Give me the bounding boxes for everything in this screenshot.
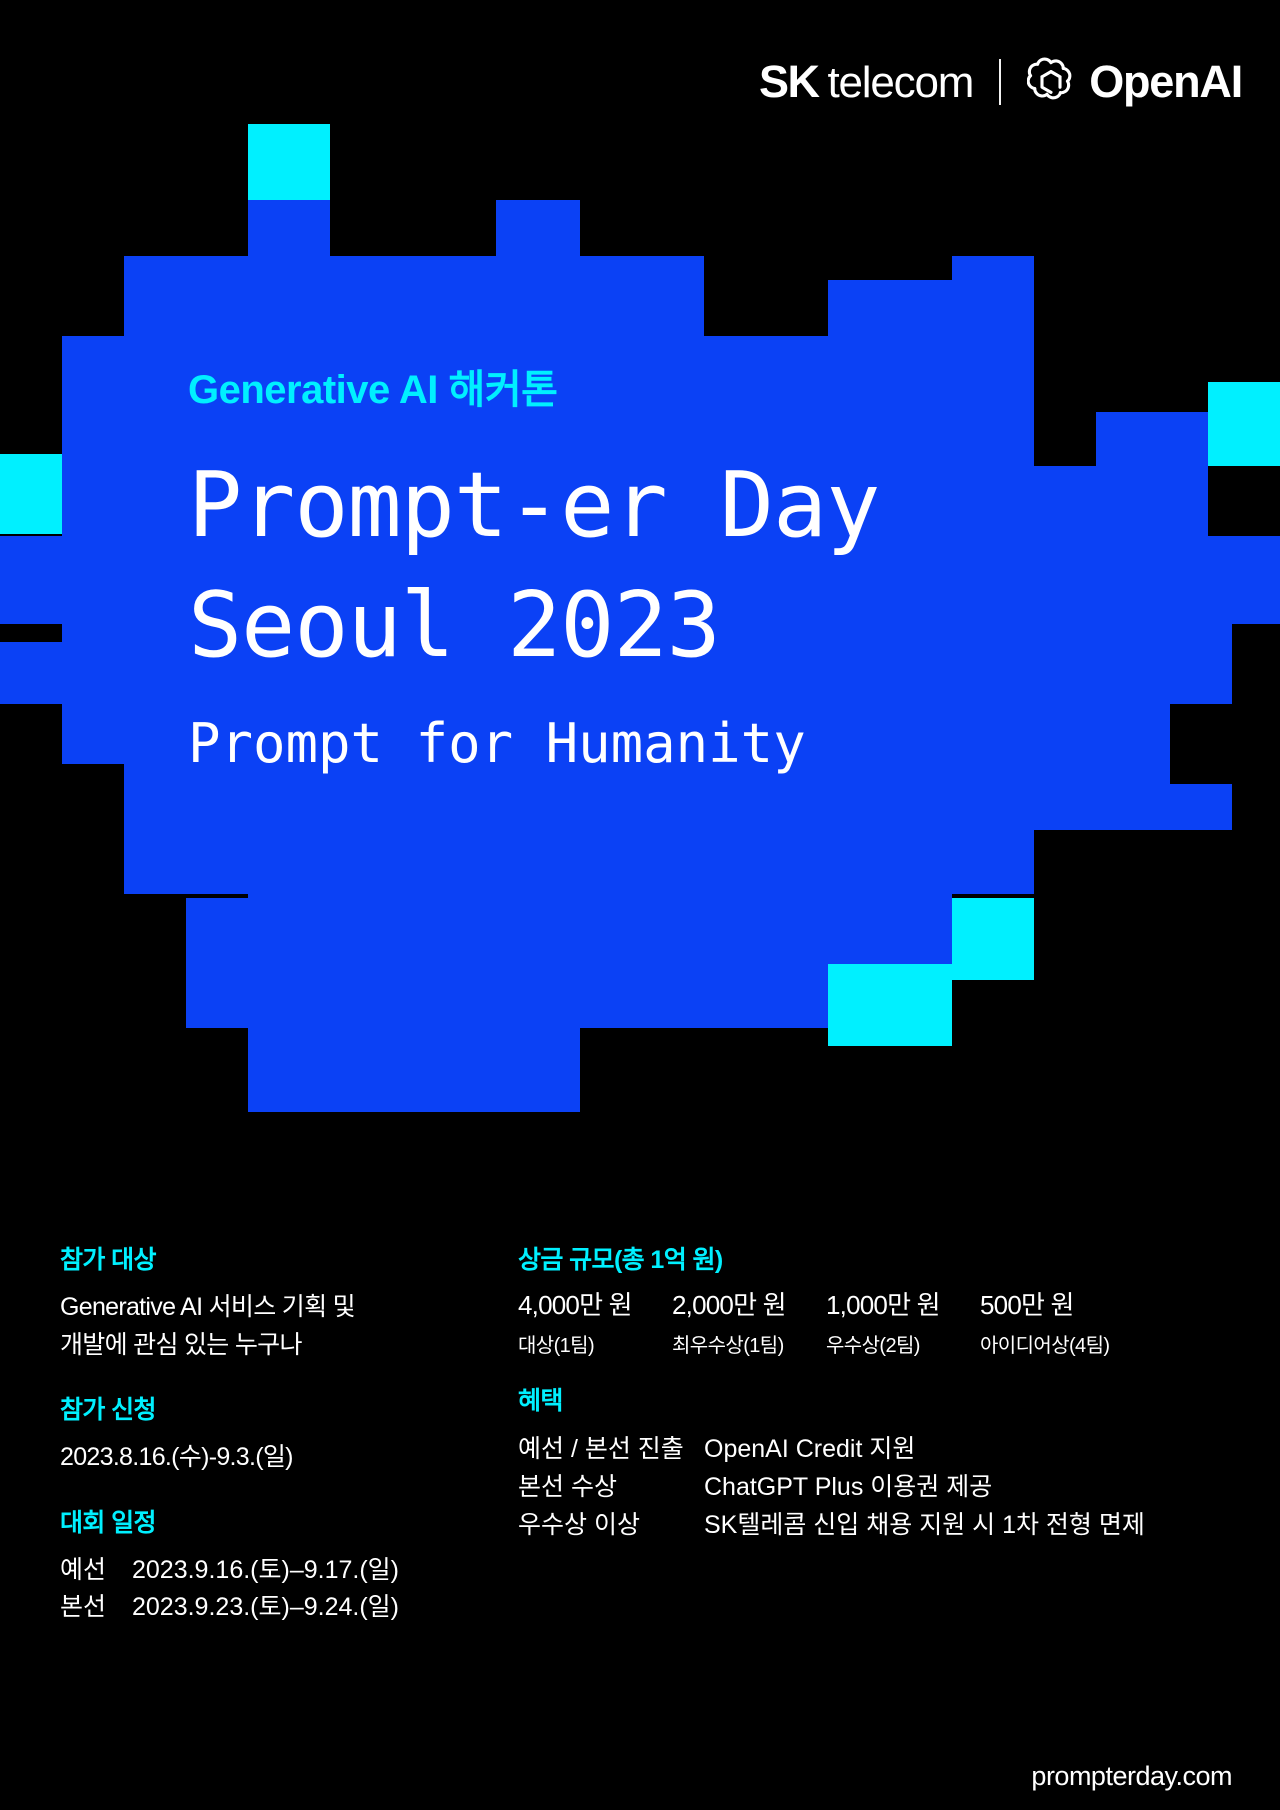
website-url[interactable]: prompterday.com — [1031, 1763, 1232, 1790]
application-period: 2023.8.16.(수)-9.3.(일) — [60, 1439, 460, 1477]
info-column-right: 상금 규모(총 1억 원) 4,000만 원 대상(1팀) 2,000만 원 최… — [518, 1248, 1228, 1578]
openai-knot-icon — [1027, 55, 1075, 108]
blob-notch — [0, 704, 62, 764]
benefits-heading: 혜택 — [518, 1389, 1228, 1414]
blob-notch — [1170, 704, 1280, 784]
prize-amount: 2,000만 원 — [672, 1289, 826, 1322]
info-column-left: 참가 대상 Generative AI 서비스 기획 및 개발에 관심 있는 누… — [60, 1248, 460, 1661]
benefit-row: 예선 / 본선 진출 OpenAI Credit 지원 — [518, 1430, 1228, 1468]
hero-title-line-2: Seoul 2023 — [188, 566, 879, 686]
prize-label: 아이디어상(4팀) — [980, 1333, 1134, 1359]
blob-band — [248, 1028, 580, 1112]
schedule-row-label: 본선 — [60, 1589, 132, 1627]
benefit-condition: 예선 / 본선 진출 — [518, 1430, 704, 1468]
benefits-block: 혜택 예선 / 본선 진출 OpenAI Credit 지원 본선 수상 Cha… — [518, 1389, 1228, 1544]
blob-notch — [1034, 830, 1280, 894]
cyan-accent-square — [828, 962, 952, 1046]
poster: SK telecom — [0, 0, 1280, 1810]
info-section: 참가 대상 Generative AI 서비스 기획 및 개발에 관심 있는 누… — [0, 1248, 1280, 1808]
benefit-condition: 우수상 이상 — [518, 1506, 704, 1544]
cyan-accent-square — [248, 124, 330, 206]
sk-logo-mark: SK — [759, 59, 819, 104]
benefit-row: 본선 수상 ChatGPT Plus 이용권 제공 — [518, 1468, 1228, 1506]
schedule-row-value: 2023.9.16.(토)–9.17.(일) — [132, 1552, 399, 1590]
benefit-description: SK텔레콤 신입 채용 지원 시 1차 전형 면제 — [704, 1506, 1145, 1544]
prize-item: 4,000만 원 대상(1팀) — [518, 1289, 672, 1359]
cyan-accent-square — [952, 898, 1034, 980]
schedule-block: 대회 일정 예선 2023.9.16.(토)–9.17.(일) 본선 2023.… — [60, 1511, 460, 1627]
prizes-block: 상금 규모(총 1억 원) 4,000만 원 대상(1팀) 2,000만 원 최… — [518, 1248, 1228, 1359]
blob-band — [952, 256, 1034, 280]
openai-logo: OpenAI — [1027, 55, 1242, 108]
hero-title-line-1: Prompt-er Day — [188, 446, 879, 566]
blob-notch — [0, 412, 62, 454]
hero-kicker: Generative AI 해커톤 — [188, 370, 879, 410]
blob-notch — [1034, 280, 1280, 382]
prize-label: 대상(1팀) — [518, 1333, 672, 1359]
application-heading: 참가 신청 — [60, 1398, 460, 1423]
blob-notch — [1034, 412, 1096, 466]
prize-item: 500만 원 아이디어상(4팀) — [980, 1289, 1134, 1359]
prizes-heading: 상금 규모(총 1억 원) — [518, 1248, 1228, 1273]
audience-heading: 참가 대상 — [60, 1248, 460, 1273]
blob-notch — [1232, 624, 1280, 704]
hero-section: Generative AI 해커톤 Prompt-er Day Seoul 20… — [188, 370, 879, 771]
prize-label: 우수상(2팀) — [826, 1333, 980, 1359]
cyan-accent-square — [952, 268, 1034, 350]
benefit-description: ChatGPT Plus 이용권 제공 — [704, 1468, 992, 1506]
benefit-row: 우수상 이상 SK텔레콤 신입 채용 지원 시 1차 전형 면제 — [518, 1506, 1228, 1544]
blob-notch — [62, 764, 124, 894]
schedule-heading: 대회 일정 — [60, 1511, 460, 1536]
prize-amount: 500만 원 — [980, 1289, 1134, 1322]
benefit-description: OpenAI Credit 지원 — [704, 1430, 915, 1468]
prize-amount: 4,000만 원 — [518, 1289, 672, 1322]
schedule-row: 본선 2023.9.23.(토)–9.24.(일) — [60, 1589, 460, 1627]
brand-logos: SK telecom — [759, 55, 1242, 108]
blob-band — [496, 200, 580, 256]
audience-block: 참가 대상 Generative AI 서비스 기획 및 개발에 관심 있는 누… — [60, 1248, 460, 1364]
blob-notch — [330, 200, 496, 256]
hero-tagline: Prompt for Humanity — [188, 717, 879, 771]
blob-notch — [124, 894, 186, 964]
cyan-accent-square — [248, 1028, 330, 1112]
blob-band — [124, 894, 952, 964]
audience-line: Generative AI 서비스 기획 및 — [60, 1289, 460, 1327]
prize-amount: 1,000만 원 — [826, 1289, 980, 1322]
prize-label: 최우수상(1팀) — [672, 1333, 826, 1359]
cyan-accent-square — [1208, 382, 1280, 466]
blob-notch — [186, 894, 248, 898]
sk-telecom-logo: SK telecom — [759, 59, 973, 105]
blob-band — [330, 1028, 580, 1112]
openai-logo-word: OpenAI — [1089, 59, 1242, 104]
logo-divider — [999, 59, 1001, 105]
application-block: 참가 신청 2023.8.16.(수)-9.3.(일) — [60, 1398, 460, 1477]
cyan-accent-square — [0, 452, 62, 534]
blob-notch — [0, 624, 62, 642]
blob-band — [124, 256, 704, 336]
blob-notch — [580, 1028, 642, 1112]
schedule-row-value: 2023.9.23.(토)–9.24.(일) — [132, 1589, 399, 1627]
blob-notch — [1208, 466, 1280, 536]
prize-item: 1,000만 원 우수상(2팀) — [826, 1289, 980, 1359]
prize-item: 2,000만 원 최우수상(1팀) — [672, 1289, 826, 1359]
schedule-row-label: 예선 — [60, 1552, 132, 1590]
sk-logo-word: telecom — [828, 61, 974, 105]
blob-band — [0, 536, 62, 624]
benefit-condition: 본선 수상 — [518, 1468, 704, 1506]
prize-grid: 4,000만 원 대상(1팀) 2,000만 원 최우수상(1팀) 1,000만… — [518, 1289, 1228, 1359]
blob-notch — [704, 256, 828, 336]
blob-band — [186, 964, 828, 1028]
blob-band — [248, 200, 330, 256]
audience-line: 개발에 관심 있는 누구나 — [60, 1327, 460, 1365]
schedule-row: 예선 2023.9.16.(토)–9.17.(일) — [60, 1552, 460, 1590]
